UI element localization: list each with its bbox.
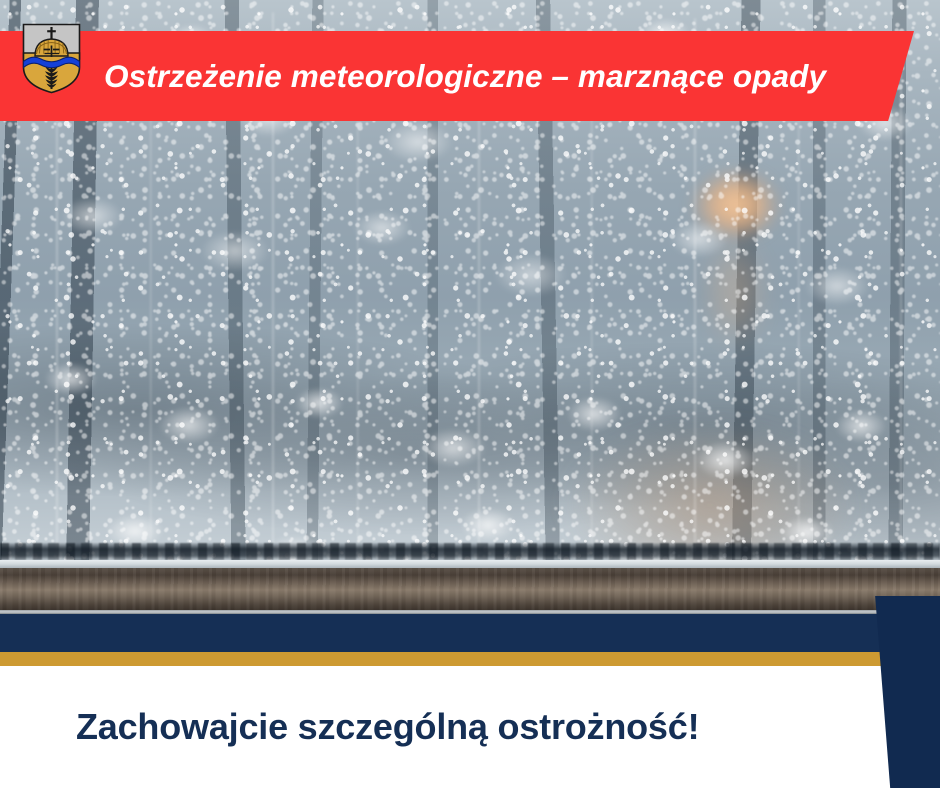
navy-band xyxy=(0,614,940,652)
coat-of-arms-icon xyxy=(22,23,81,94)
gold-band xyxy=(0,652,940,666)
footer-caption: Zachowajcie szczególną ostrożność! xyxy=(0,666,846,788)
window-sill xyxy=(0,568,940,612)
page-title: Ostrzeżenie meteorologiczne – marznące o… xyxy=(104,31,920,121)
ice-ledge xyxy=(0,543,940,560)
weather-warning-poster: Zachowajcie szczególną ostrożność! Ostrz… xyxy=(0,0,940,788)
window-sill-grain xyxy=(0,568,940,612)
